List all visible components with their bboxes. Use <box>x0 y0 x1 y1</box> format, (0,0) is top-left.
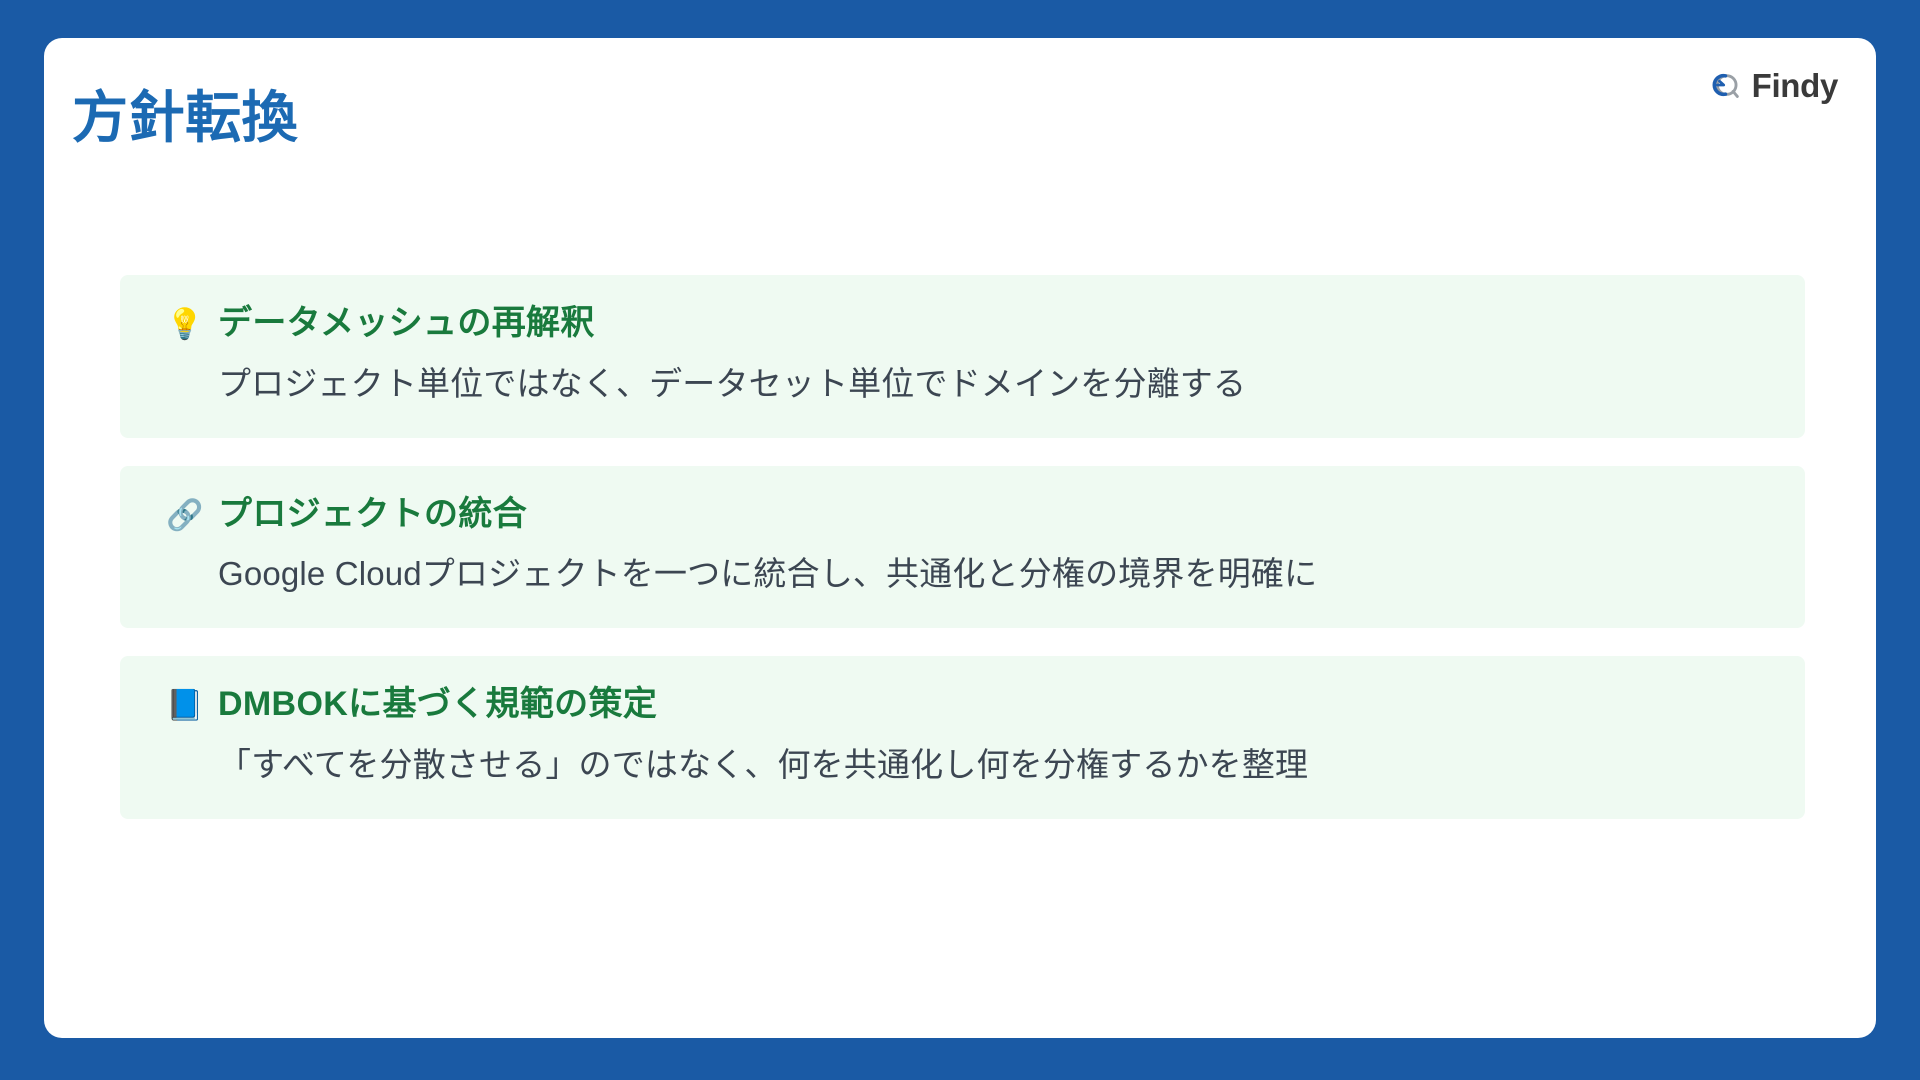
card-heading-row: 📘 DMBOKに基づく規範の策定 <box>166 684 1759 725</box>
card-body: Google Cloudプロジェクトを一つに統合し、共通化と分権の境界を明確に <box>166 550 1759 598</box>
list-item: 🔗 プロジェクトの統合 Google Cloudプロジェクトを一つに統合し、共通… <box>120 466 1805 629</box>
card-heading: データメッシュの再解釈 <box>218 303 595 344</box>
brand-name: Findy <box>1752 69 1838 102</box>
findy-logo-icon <box>1708 68 1742 102</box>
page-title: 方針転換 <box>72 90 298 146</box>
list-item: 💡 データメッシュの再解釈 プロジェクト単位ではなく、データセット単位でドメイン… <box>120 275 1805 438</box>
card-heading-row: 🔗 プロジェクトの統合 <box>166 494 1759 535</box>
list-item: 📘 DMBOKに基づく規範の策定 「すべてを分散させる」のではなく、何を共通化し… <box>120 656 1805 819</box>
link-chain-icon: 🔗 <box>166 499 200 532</box>
lightbulb-icon: 💡 <box>166 308 200 341</box>
key-points-list: 💡 データメッシュの再解釈 プロジェクト単位ではなく、データセット単位でドメイン… <box>120 275 1805 819</box>
brand-logo: Findy <box>1708 68 1838 102</box>
slide-header: 方針転換 Findy <box>44 38 1876 188</box>
slide-surface: 方針転換 Findy 💡 データメッシュの再解釈 プロジェクト単位ではなく、デー… <box>44 38 1876 1038</box>
blue-book-icon: 📘 <box>166 689 200 722</box>
card-heading: DMBOKに基づく規範の策定 <box>218 684 657 725</box>
card-heading: プロジェクトの統合 <box>218 494 527 535</box>
card-body: プロジェクト単位ではなく、データセット単位でドメインを分離する <box>166 360 1759 408</box>
card-heading-row: 💡 データメッシュの再解釈 <box>166 303 1759 344</box>
card-body: 「すべてを分散させる」のではなく、何を共通化し何を分権するかを整理 <box>166 741 1759 789</box>
